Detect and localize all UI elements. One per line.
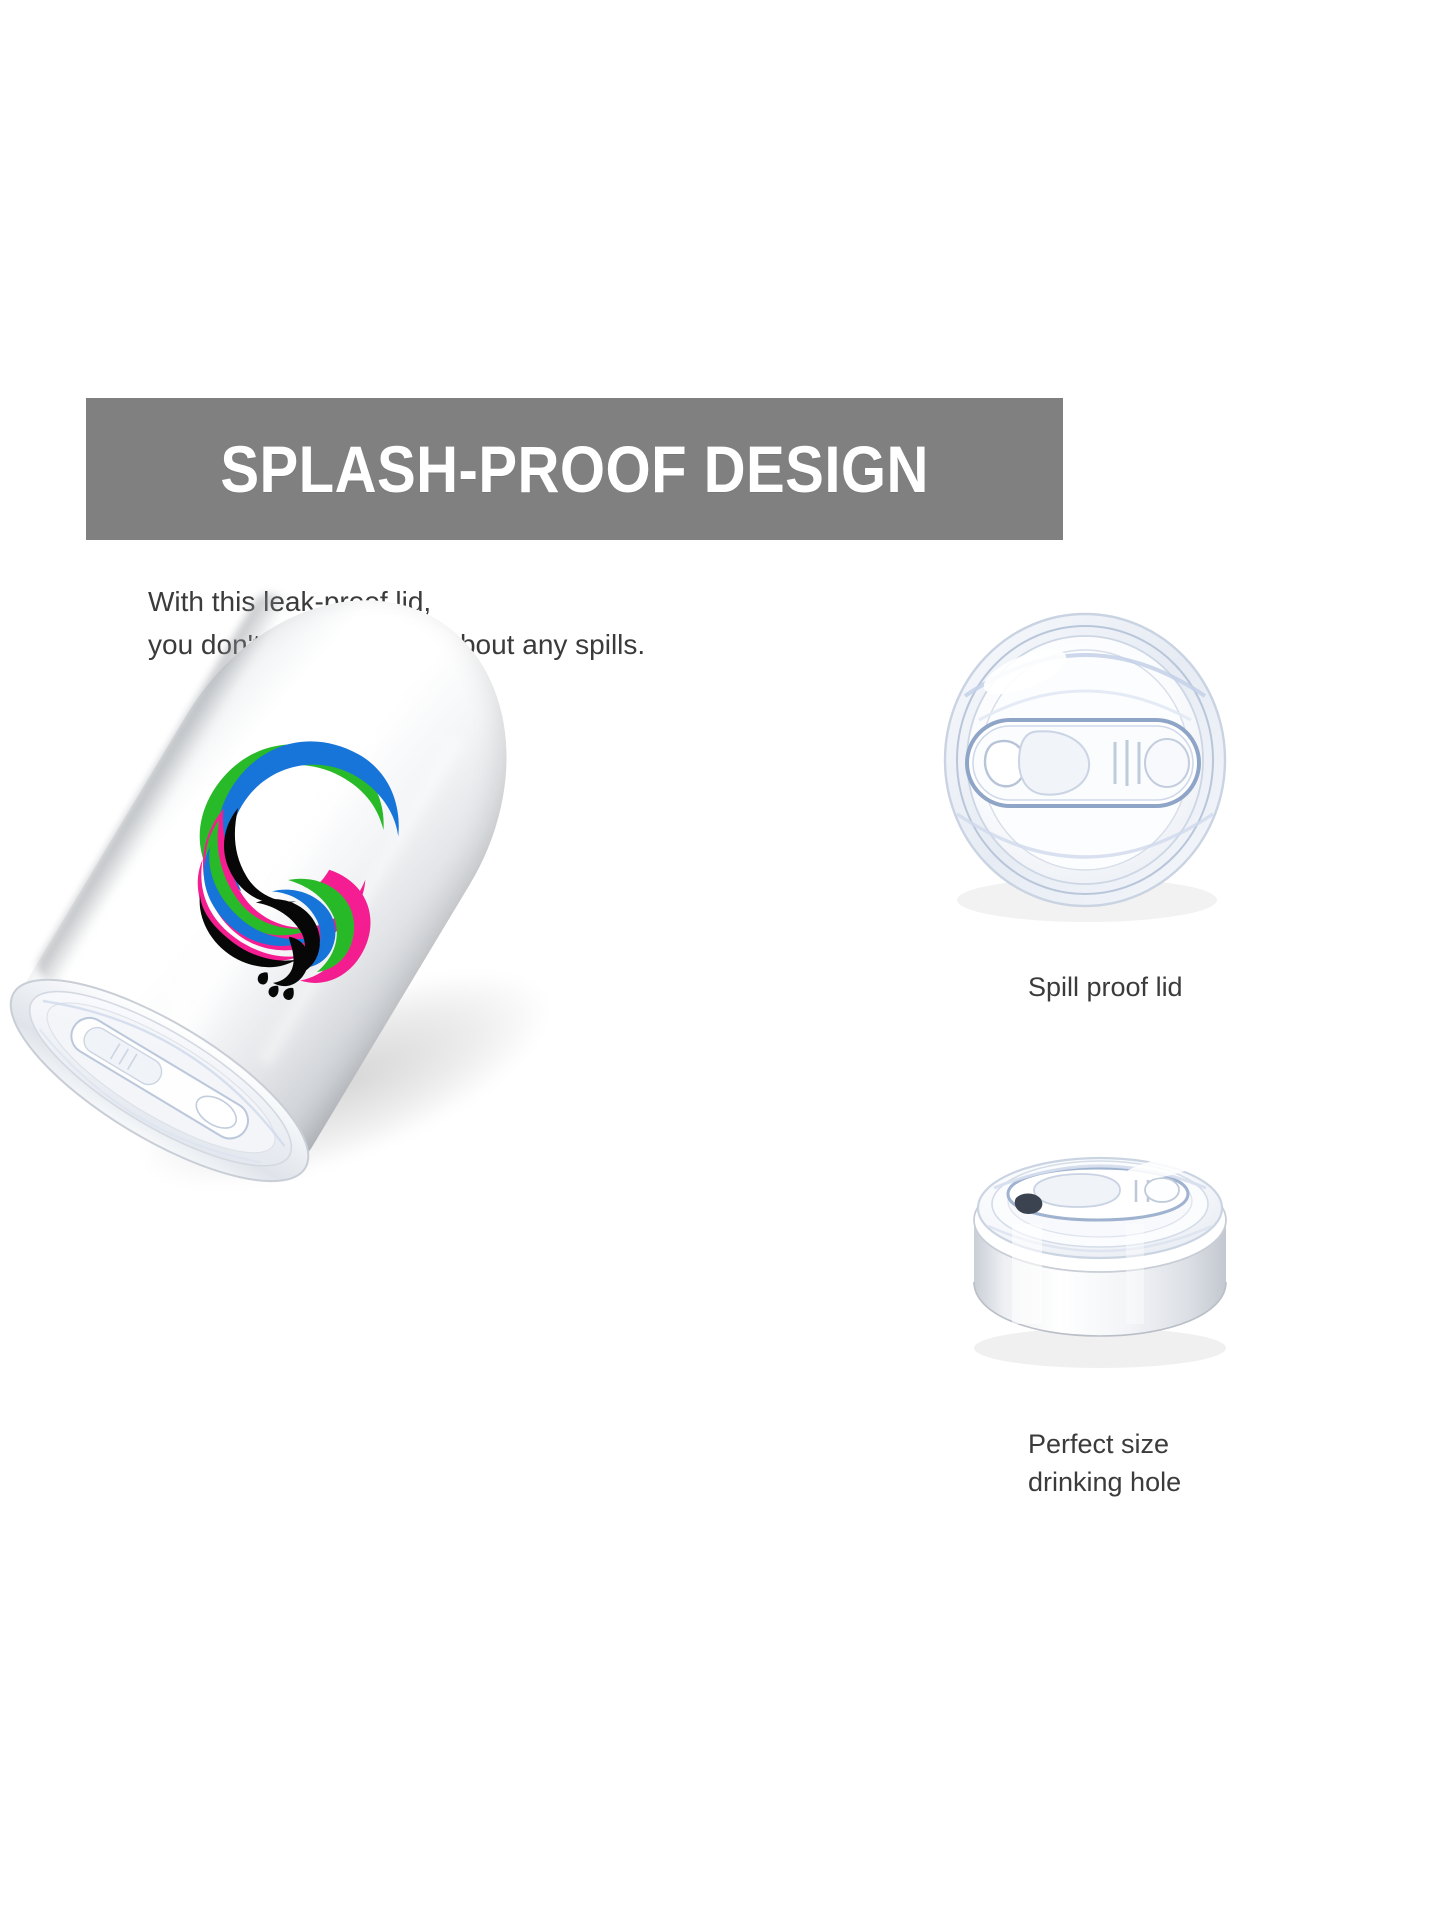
caption-spill-proof-lid: Spill proof lid [1028,968,1183,1006]
product-feature-page: SPLASH-PROOF DESIGN With this leak-proof… [0,0,1445,1927]
spill-proof-lid-top-view [905,600,1265,950]
banner: SPLASH-PROOF DESIGN [86,398,1063,540]
product-hero-image [90,575,790,1275]
caption-drinking-hole-line-1: Perfect size [1028,1425,1268,1463]
page-title: SPLASH-PROOF DESIGN [220,436,929,502]
drinking-hole-lid-angled-view [930,1070,1270,1410]
caption-drinking-hole-line-2: drinking hole [1028,1463,1268,1501]
tumbler-graphic [0,534,578,1218]
caption-drinking-hole: Perfect size drinking hole [1028,1425,1268,1501]
